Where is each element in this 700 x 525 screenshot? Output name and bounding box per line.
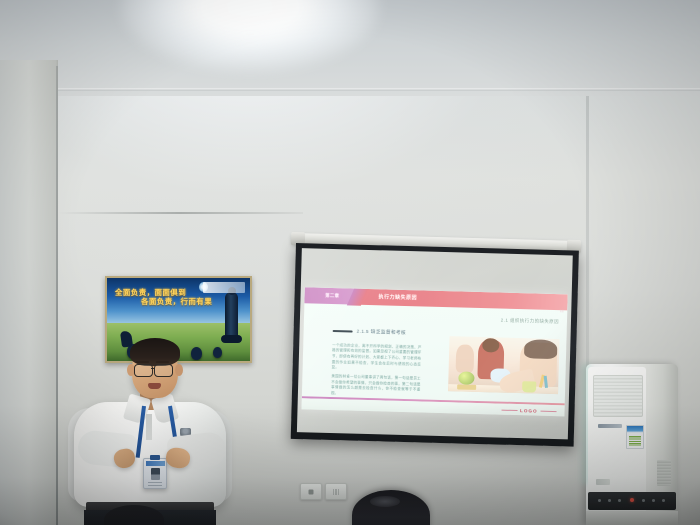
eyeglasses-lens-right-icon	[154, 364, 173, 377]
projected-slide: 第二章 执行力缺失原因 11 2.1 组织执行力的缺失原因 2.1.5 缺乏监督…	[302, 287, 568, 416]
photo-apple-icon	[458, 372, 475, 386]
wall-seam-left	[58, 212, 303, 214]
slide-title-band: 执行力缺失原因	[360, 288, 568, 310]
slide-header: 第二章 执行力缺失原因	[304, 287, 567, 311]
photo-child-head	[482, 338, 499, 353]
floor-shadow	[0, 405, 700, 525]
classroom-scene: 全面负责，面面俱到 各面负责，行而有果 第二章 执行力缺失原因 11 2.1 组…	[0, 0, 700, 525]
slide-paragraph-2: 美国的林肯一位公司董事讲了两句话，第一句话是员工不会做你希望的事情，只会做你检查…	[331, 374, 421, 399]
photo-child-background	[455, 344, 475, 373]
presenter-eyebrow-left	[136, 361, 149, 363]
photo-child-hair	[524, 339, 558, 359]
presenter-ear-right	[175, 364, 183, 376]
presenter-eyebrow-right	[156, 361, 169, 363]
section-dash-icon	[333, 330, 353, 333]
slide-photo-children-studying	[448, 336, 560, 394]
slide-page-number: 11	[560, 309, 564, 313]
ceiling-wall-edge	[0, 88, 700, 91]
chess-king-icon	[225, 292, 238, 340]
slide-section-heading-row: 2.1.5 缺乏监督和考核	[333, 328, 407, 336]
photo-apple-base	[457, 384, 476, 389]
slide-paragraph-1: 一个成功的企业，离不开科学的规划、正确的决策、严格的管理和有效的监督。如果忽视了…	[332, 343, 422, 374]
wall-seam-right	[586, 96, 589, 396]
presenter-mouth	[148, 383, 161, 389]
slide-chapter-label: 第二章	[325, 293, 339, 299]
slide-subtitle: 2.1 组织执行力的缺失原因	[501, 317, 559, 325]
poster-company-logo	[203, 282, 245, 293]
photo-pencil-cup	[522, 381, 537, 392]
slide-title: 执行力缺失原因	[378, 294, 417, 302]
eyeglasses-lens-left-icon	[134, 364, 153, 377]
eyeglasses-bridge-icon	[151, 368, 155, 369]
slide-section-heading: 2.1.5 缺乏监督和考核	[357, 329, 407, 336]
